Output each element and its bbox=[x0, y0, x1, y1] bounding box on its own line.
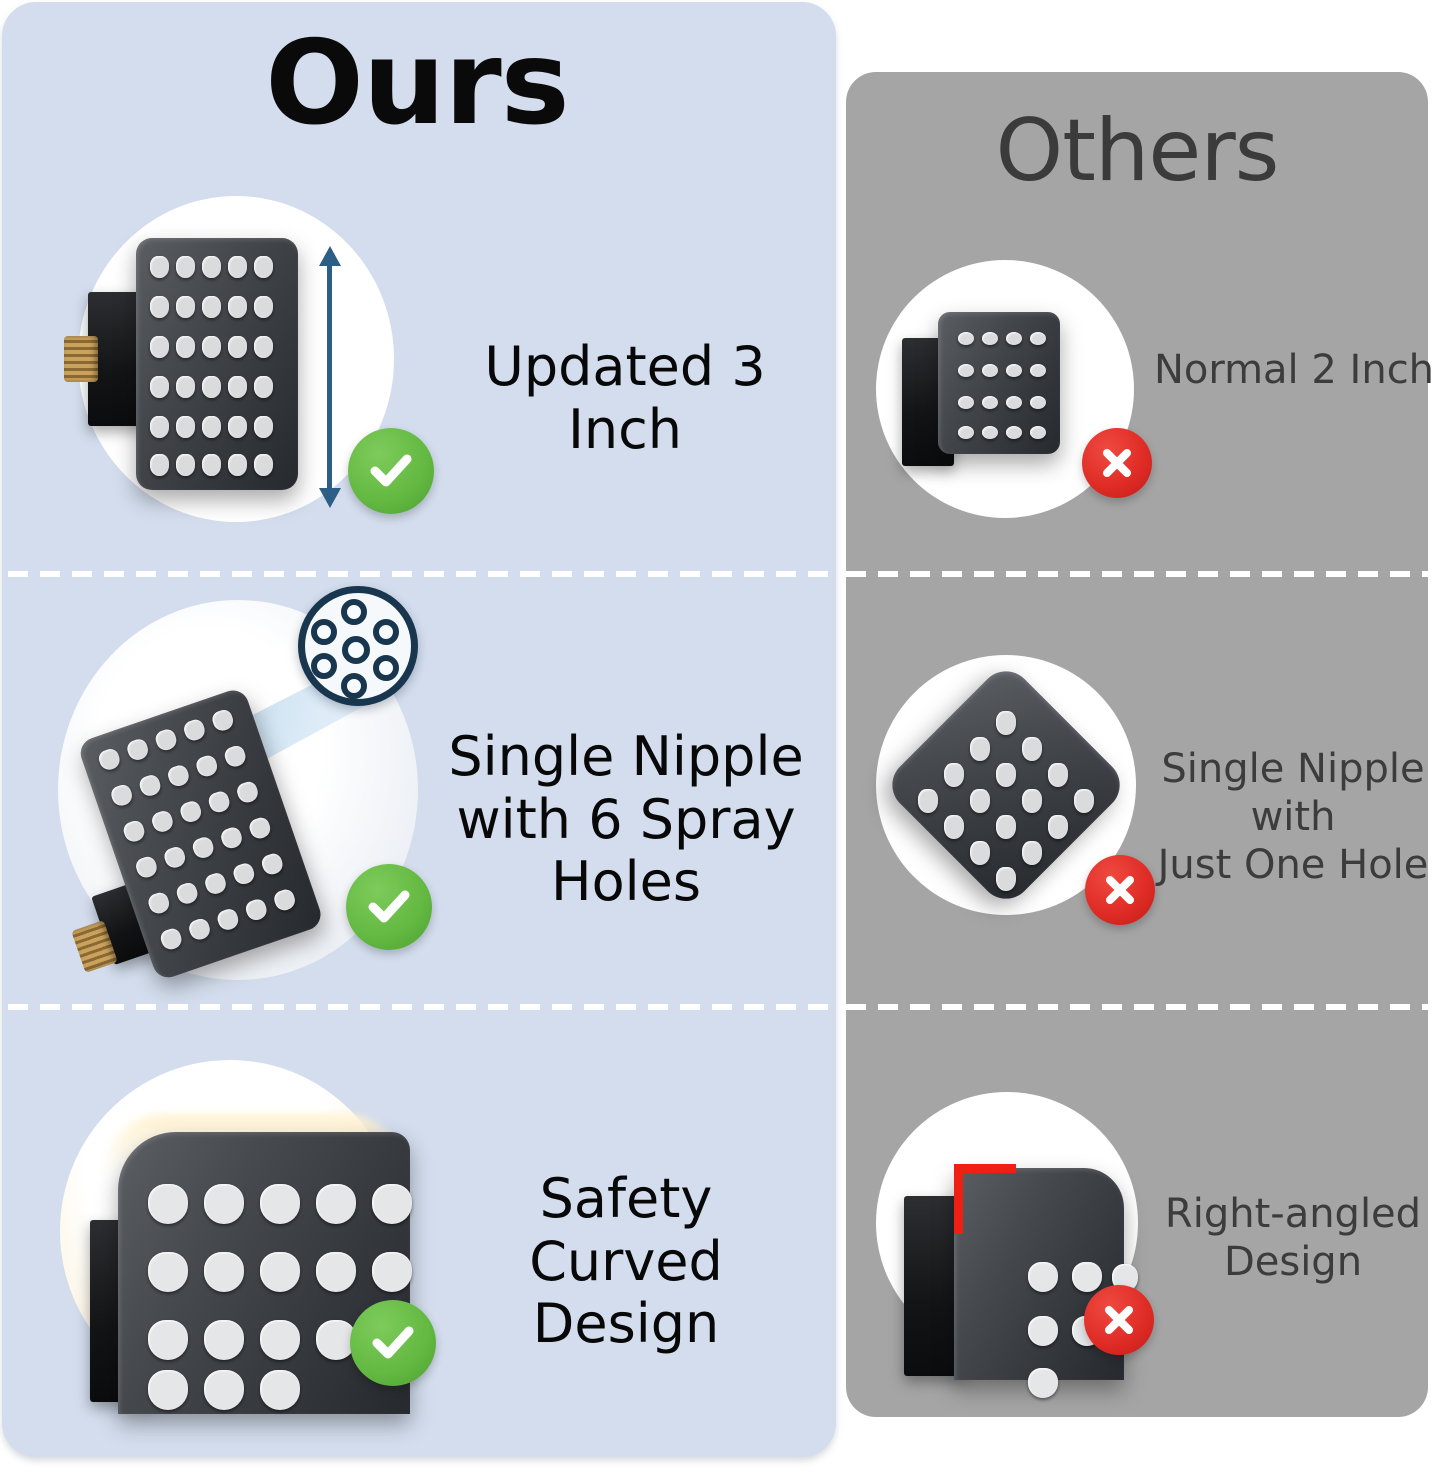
ours-row-1-image bbox=[78, 196, 394, 522]
comparison-infographic: Ours bbox=[0, 0, 1454, 1472]
shower-head-face bbox=[136, 238, 298, 490]
row-divider-2-others bbox=[846, 1004, 1428, 1010]
others-row-3-caption: Right-angled Design bbox=[1140, 1190, 1446, 1286]
ours-row-2-caption: Single Nipple with 6 Spray Holes bbox=[428, 726, 824, 914]
shower-head-face-small bbox=[938, 312, 1060, 454]
ours-panel-title: Ours bbox=[0, 26, 834, 142]
right-angle-marker-icon bbox=[954, 1164, 1016, 1234]
cross-badge bbox=[1082, 428, 1152, 498]
others-row-1-caption: Normal 2 Inch bbox=[1148, 346, 1440, 394]
row-divider-1-ours bbox=[8, 571, 830, 577]
spray-hole-detail-icon bbox=[298, 586, 418, 706]
row-divider-1-others bbox=[846, 571, 1428, 577]
brass-thread-connector bbox=[64, 336, 98, 382]
cross-badge bbox=[1084, 1285, 1154, 1355]
check-badge bbox=[348, 428, 434, 514]
row-divider-2-ours bbox=[8, 1004, 830, 1010]
others-row-2-caption: Single Nipple with Just One Hole bbox=[1140, 745, 1446, 889]
check-badge bbox=[350, 1300, 436, 1386]
ours-row-3-image bbox=[60, 1060, 400, 1402]
others-panel-title: Others bbox=[846, 108, 1428, 194]
ours-row-1-caption: Updated 3 Inch bbox=[430, 336, 820, 461]
ours-row-3-caption: Safety Curved Design bbox=[430, 1168, 822, 1356]
check-badge bbox=[346, 864, 432, 950]
